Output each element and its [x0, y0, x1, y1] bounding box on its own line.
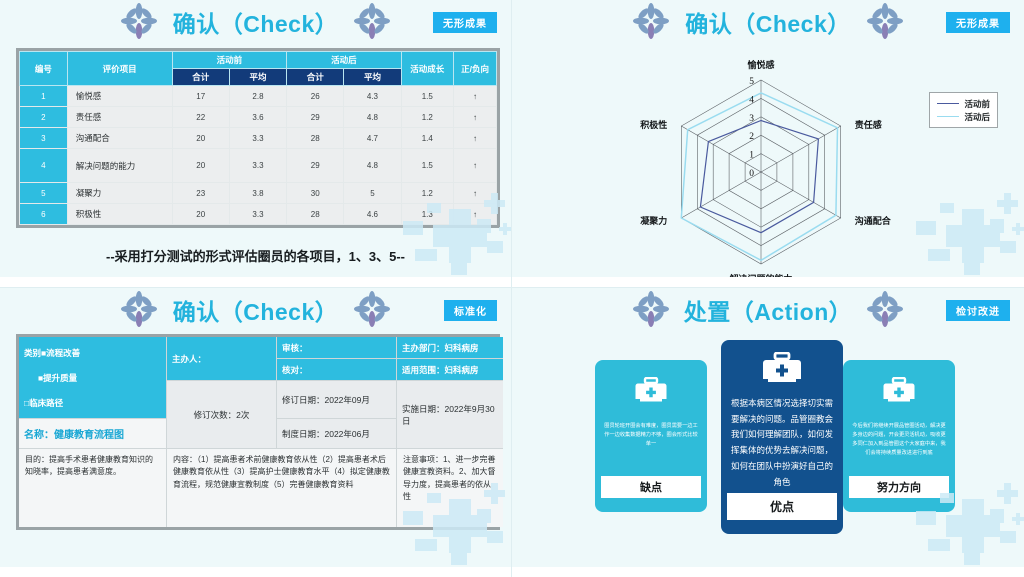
table-row: 2责任感223.6294.81.2↑: [20, 107, 497, 128]
radar-series-before: [700, 121, 818, 233]
slide-deck: 确认（Check） 无形成果 编号 评价项目 活动前 活动后 活动成长 正/负向…: [0, 0, 1024, 577]
radar-tick-label: 4: [749, 95, 754, 105]
form-review-label: 审核：: [277, 337, 397, 359]
th-after-avg: 平均: [344, 69, 401, 86]
slide1-header: 确认（Check） 无形成果: [0, 0, 511, 44]
cell-growth: 1.2: [401, 183, 453, 204]
cell-before-avg: 2.8: [229, 86, 286, 107]
th-after: 活动后: [287, 52, 401, 69]
slide-check-radar: 确认（Check） 无形成果 012345愉悦感责任感沟通配合解决问题的能力凝聚…: [512, 0, 1024, 288]
card-disadvantage-text: 圈员轮班开圈会有难度，圈员需要一边工作一边收集数据精力不够，圈会形式比较单一: [602, 422, 700, 449]
radar-category-label: 责任感: [855, 119, 882, 130]
cell-growth: 1.4: [401, 128, 453, 149]
radar-tick-label: 3: [749, 114, 754, 124]
cell-growth: 1.5: [401, 86, 453, 107]
cell-direction: ↑: [454, 107, 497, 128]
th-after-total: 合计: [287, 69, 344, 86]
legend-item-after: 活动后: [937, 110, 990, 123]
table-row: 4解决问题的能力203.3294.81.5↑: [20, 149, 497, 183]
cell-growth: 1.5: [401, 149, 453, 183]
cell-no: 1: [20, 86, 68, 107]
cell-no: 4: [20, 149, 68, 183]
cell-before-total: 20: [172, 149, 229, 183]
radar-axis-line: [761, 172, 841, 218]
th-before-total: 合计: [172, 69, 229, 86]
category-line-3: □临床路径: [24, 397, 161, 409]
radar-category-label: 愉悦感: [747, 59, 774, 70]
form-content: 内容：（1）提高患者术前健康教育依从性（2）提高患者术后健康教育依从性（3）提高…: [167, 449, 397, 527]
cell-after-total: 26: [287, 86, 344, 107]
cell-before-avg: 3.3: [229, 204, 286, 225]
card-direction-text: 今后我们将继续开展品管圈活动，解决更多身边的问题，开会更灵活机动，吸收更多同仁加…: [850, 422, 948, 458]
cell-after-total: 30: [287, 183, 344, 204]
cell-after-avg: 4.3: [344, 86, 401, 107]
card-advantage-text: 根据本病区情况选择切实需要解决的问题。品管圈教会我们如何理解团队，如何发挥集体的…: [728, 396, 836, 490]
cell-growth: 1.3: [401, 204, 453, 225]
slide-check-standard: 确认（Check） 标准化 类别■流程改善 ■提升质量 □临床路径 主办人： 审…: [0, 288, 512, 577]
cell-after-avg: 4.6: [344, 204, 401, 225]
standard-form-table: 类别■流程改善 ■提升质量 □临床路径 主办人： 审核： 核对： 主办部门：妇科…: [16, 334, 500, 530]
th-no: 编号: [20, 52, 68, 86]
radar-chart-area: 012345愉悦感责任感沟通配合解决问题的能力凝聚力积极性: [512, 44, 1024, 280]
category-line-2: ■提升质量: [24, 372, 161, 384]
card-direction-button[interactable]: 努力方向: [849, 476, 949, 498]
action-cards: 圈员轮班开圈会有难度，圈员需要一边工作一边收集数据精力不够，圈会形式比较单一 缺…: [512, 332, 1024, 572]
page-title: 确认（Check）: [0, 293, 511, 327]
cell-after-total: 28: [287, 204, 344, 225]
form-revise-date: 修订日期：2022年09月: [277, 381, 397, 419]
table-row: 1愉悦感172.8264.31.5↑: [20, 86, 497, 107]
radar-category-label: 凝聚力: [640, 215, 667, 226]
cell-before-avg: 3.3: [229, 128, 286, 149]
cell-before-avg: 3.8: [229, 183, 286, 204]
cell-item: 责任感: [67, 107, 172, 128]
score-table-wrapper: 编号 评价项目 活动前 活动后 活动成长 正/负向 合计 平均 合计 平均 1愉…: [16, 48, 500, 228]
legend-item-before: 活动前: [937, 97, 990, 110]
cell-item: 积极性: [67, 204, 172, 225]
cell-no: 2: [20, 107, 68, 128]
th-before-avg: 平均: [229, 69, 286, 86]
form-revision-count: 修订次数：2次: [167, 381, 277, 449]
radar-category-label: 沟通配合: [855, 215, 892, 226]
legend-line-after: [937, 116, 959, 117]
cell-item: 解决问题的能力: [67, 149, 172, 183]
form-notes: 注意事项：1、进一步完善健康宣教资料。2、加大督导力度，提高患者的依从性: [397, 449, 503, 527]
slide-check-table: 确认（Check） 无形成果 编号 评价项目 活动前 活动后 活动成长 正/负向…: [0, 0, 512, 288]
cell-direction: ↑: [454, 204, 497, 225]
cell-direction: ↑: [454, 86, 497, 107]
th-before: 活动前: [172, 52, 286, 69]
score-table-body: 1愉悦感172.8264.31.5↑2责任感223.6294.81.2↑3沟通配…: [20, 86, 497, 225]
radar-tick-label: 1: [749, 151, 754, 161]
cell-item: 凝聚力: [67, 183, 172, 204]
cell-no: 3: [20, 128, 68, 149]
slide2-header: 确认（Check） 无形成果: [512, 0, 1024, 44]
status-badge: 无形成果: [946, 12, 1010, 33]
cell-direction: ↑: [454, 149, 497, 183]
cell-after-total: 28: [287, 128, 344, 149]
cell-direction: ↑: [454, 128, 497, 149]
cell-before-total: 23: [172, 183, 229, 204]
medical-kit-icon: [634, 377, 668, 405]
form-category-cell: 类别■流程改善 ■提升质量 □临床路径: [19, 337, 167, 419]
cell-no: 5: [20, 183, 68, 204]
legend-label-after: 活动后: [964, 111, 990, 123]
cell-before-total: 22: [172, 107, 229, 128]
cell-item: 沟通配合: [67, 128, 172, 149]
status-badge: 无形成果: [433, 12, 497, 33]
radar-category-label: 积极性: [640, 119, 667, 130]
table-row: 3沟通配合203.3284.71.4↑: [20, 128, 497, 149]
category-line-1: 类别■流程改善: [24, 347, 161, 359]
table-caption: --采用打分测试的形式评估圈员的各项目，1、3、5--: [0, 246, 511, 265]
card-disadvantage[interactable]: 圈员轮班开圈会有难度，圈员需要一边工作一边收集数据精力不够，圈会形式比较单一 缺…: [595, 360, 707, 512]
chart-legend: 活动前 活动后: [929, 92, 998, 128]
medical-kit-icon: [882, 377, 916, 405]
card-disadvantage-button[interactable]: 缺点: [601, 476, 701, 498]
status-badge: 标准化: [444, 300, 497, 321]
form-scope-label: 适用范围：妇科病房: [397, 359, 503, 381]
form-purpose: 目的：提高手术患者健康教育知识的知晓率，提高患者满意度。: [19, 449, 167, 527]
form-name-label: 名称：健康教育流程图: [19, 419, 167, 449]
cell-before-total: 17: [172, 86, 229, 107]
radar-chart: 012345愉悦感责任感沟通配合解决问题的能力凝聚力积极性: [512, 44, 1024, 280]
th-growth: 活动成长: [401, 52, 453, 86]
radar-tick-label: 2: [749, 132, 754, 142]
cell-growth: 1.2: [401, 107, 453, 128]
legend-line-before: [937, 103, 959, 104]
cell-no: 6: [20, 204, 68, 225]
th-direction: 正/负向: [454, 52, 497, 86]
form-implement-date: 实施日期：2022年9月30日: [397, 381, 503, 449]
slide3-header: 确认（Check） 标准化: [0, 288, 511, 332]
cell-before-avg: 3.3: [229, 149, 286, 183]
card-direction[interactable]: 今后我们将继续开展品管圈活动，解决更多身边的问题，开会更灵活机动，吸收更多同仁加…: [843, 360, 955, 512]
radar-tick-label: 5: [749, 77, 754, 87]
cell-before-total: 20: [172, 128, 229, 149]
form-system-date: 制度日期：2022年06月: [277, 419, 397, 449]
cell-after-avg: 5: [344, 183, 401, 204]
form-dept-label: 主办部门：妇科病房: [397, 337, 503, 359]
slide4-header: 处置（Action） 检讨改进: [512, 288, 1024, 332]
cell-after-avg: 4.7: [344, 128, 401, 149]
cell-before-avg: 3.6: [229, 107, 286, 128]
table-header-row: 编号 评价项目 活动前 活动后 活动成长 正/负向: [20, 52, 497, 69]
cell-direction: ↑: [454, 183, 497, 204]
card-advantage[interactable]: 根据本病区情况选择切实需要解决的问题。品管圈教会我们如何理解团队，如何发挥集体的…: [721, 340, 843, 534]
cell-after-avg: 4.8: [344, 107, 401, 128]
status-badge: 检讨改进: [946, 300, 1010, 321]
card-advantage-button[interactable]: 优点: [727, 493, 837, 520]
table-row: 6积极性203.3284.61.3↑: [20, 204, 497, 225]
radar-category-label: 解决问题的能力: [729, 273, 792, 280]
form-owner-label: 主办人：: [167, 337, 277, 381]
cell-item: 愉悦感: [67, 86, 172, 107]
legend-label-before: 活动前: [964, 98, 990, 110]
cell-after-total: 29: [287, 107, 344, 128]
slide-action: 处置（Action） 检讨改进 圈员轮班开圈会有难度，圈员需要一边工作一边收集数…: [512, 288, 1024, 577]
cell-after-avg: 4.8: [344, 149, 401, 183]
th-item: 评价项目: [67, 52, 172, 86]
cell-after-total: 29: [287, 149, 344, 183]
table-row: 5凝聚力233.83051.2↑: [20, 183, 497, 204]
radar-tick-label: 0: [749, 169, 754, 179]
form-check-label: 核对：: [277, 359, 397, 381]
score-table: 编号 评价项目 活动前 活动后 活动成长 正/负向 合计 平均 合计 平均 1愉…: [19, 51, 497, 225]
medical-kit-icon: [761, 352, 803, 386]
cell-before-total: 20: [172, 204, 229, 225]
